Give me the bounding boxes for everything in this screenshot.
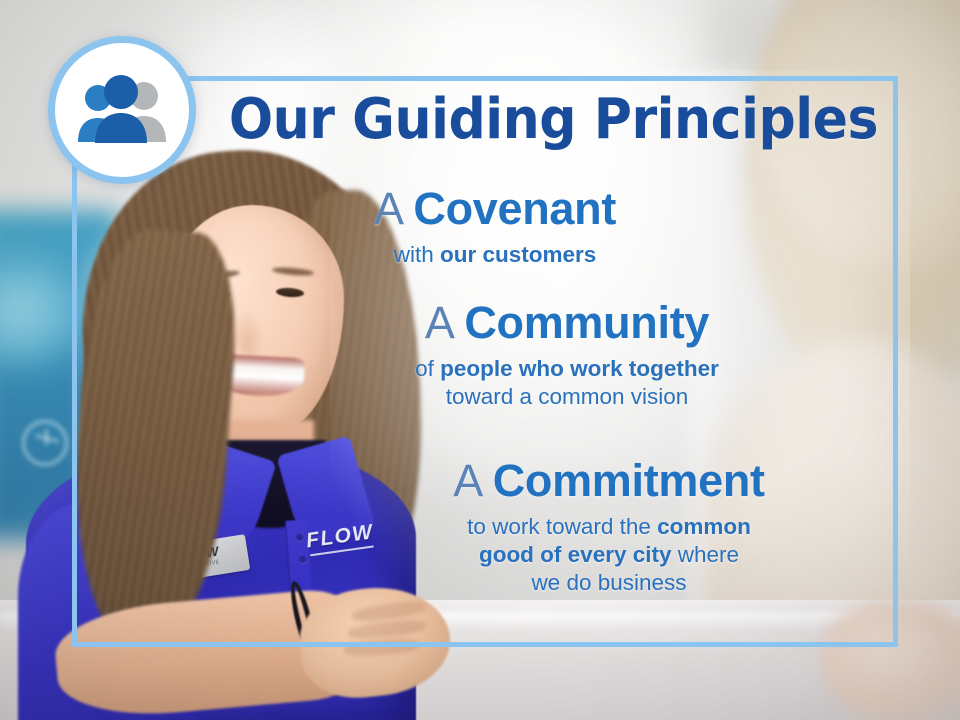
poster-canvas: FLOW AUTOMOTIVE FLOW <box>0 0 960 720</box>
plain-text: where <box>672 542 740 567</box>
principle-title: A Community <box>174 300 960 347</box>
principle-article: A <box>425 297 452 348</box>
principle-title: A Covenant <box>30 186 960 233</box>
principle-subtext-line: we do business <box>258 569 960 597</box>
principle-covenant: A Covenant with our customers <box>0 186 960 269</box>
plain-text: with <box>394 242 440 267</box>
principle-keyword: Covenant <box>413 183 616 234</box>
principle-subtext: of people who work togethertoward a comm… <box>174 355 960 412</box>
principle-keyword: Community <box>464 297 709 348</box>
emphasis-text: good of every city <box>479 542 672 567</box>
principle-subtext-line: with our customers <box>30 241 960 269</box>
principle-article: A <box>374 183 401 234</box>
customer-hand <box>820 600 960 720</box>
plain-text: toward a common vision <box>446 384 689 409</box>
emphasis-text: our customers <box>440 242 596 267</box>
principle-subtext-line: toward a common vision <box>174 383 960 411</box>
plain-text: we do business <box>531 570 686 595</box>
principle-subtext: to work toward the commongood of every c… <box>258 513 960 598</box>
plain-text: to work toward the <box>467 514 657 539</box>
principle-keyword: Commitment <box>493 455 765 506</box>
principle-title: A Commitment <box>258 458 960 505</box>
page-title: Our Guiding Principles <box>34 92 927 148</box>
principle-subtext-line: good of every city where <box>258 541 960 569</box>
principle-commitment: A Commitment to work toward the commongo… <box>0 458 960 598</box>
plain-text: of <box>415 356 440 381</box>
emphasis-text: people who work together <box>440 356 719 381</box>
principle-community: A Community of people who work togethert… <box>0 300 960 411</box>
principle-article: A <box>453 455 480 506</box>
principle-subtext-line: to work toward the common <box>258 513 960 541</box>
emphasis-text: common <box>657 514 751 539</box>
principle-subtext-line: of people who work together <box>174 355 960 383</box>
principle-subtext: with our customers <box>30 241 960 269</box>
